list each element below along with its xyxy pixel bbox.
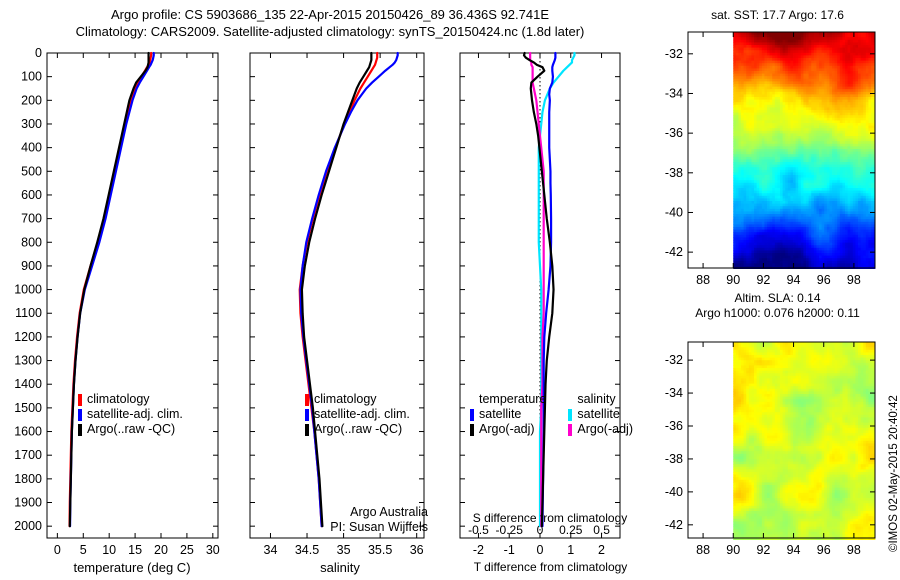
svg-text:1900: 1900 bbox=[14, 496, 42, 510]
svg-text:700: 700 bbox=[21, 212, 42, 226]
svg-text:35.5: 35.5 bbox=[368, 543, 392, 557]
legend-heading: salinity bbox=[577, 392, 615, 407]
svg-text:2: 2 bbox=[598, 543, 605, 557]
svg-text:1: 1 bbox=[567, 543, 574, 557]
legend-swatch-temp-argo-adj bbox=[470, 424, 474, 436]
svg-text:0: 0 bbox=[35, 46, 42, 60]
svg-text:-0.25: -0.25 bbox=[496, 523, 524, 537]
legend-heading-row: temperature bbox=[470, 392, 546, 407]
legend-label: Argo(-adj) bbox=[479, 422, 535, 437]
temperature-legend: climatology satellite-adj. clim. Argo(..… bbox=[78, 392, 183, 437]
legend-heading-row: salinity bbox=[568, 392, 633, 407]
svg-text:400: 400 bbox=[21, 141, 42, 155]
sla-map-plot: 889092949698-32-34-36-38-40-42 bbox=[655, 300, 900, 580]
svg-text:0: 0 bbox=[54, 543, 61, 557]
legend-item: satellite-adj. clim. bbox=[305, 407, 410, 422]
temperature-plot: 0510152025300100200300400500600700800900… bbox=[0, 0, 232, 580]
legend-item: satellite bbox=[470, 407, 546, 422]
svg-text:20: 20 bbox=[154, 543, 168, 557]
svg-text:5: 5 bbox=[80, 543, 87, 557]
svg-text:0.25: 0.25 bbox=[559, 523, 583, 537]
svg-text:800: 800 bbox=[21, 235, 42, 249]
salinity-axis-label: salinity bbox=[250, 560, 430, 575]
legend-label: satellite bbox=[577, 407, 619, 422]
salinity-plot: 3434.53535.536 bbox=[232, 0, 440, 580]
legend-label: satellite bbox=[479, 407, 521, 422]
svg-text:100: 100 bbox=[21, 70, 42, 84]
svg-text:36: 36 bbox=[410, 543, 424, 557]
legend-swatch-satellite-adj bbox=[305, 409, 309, 421]
salinity-legend: climatology satellite-adj. clim. Argo(..… bbox=[305, 392, 410, 437]
svg-text:1600: 1600 bbox=[14, 425, 42, 439]
legend-spacer bbox=[568, 394, 572, 406]
legend-label: Argo(-adj) bbox=[577, 422, 633, 437]
legend-item: satellite bbox=[568, 407, 633, 422]
svg-text:0.5: 0.5 bbox=[593, 523, 610, 537]
sst-map: 889092949698-32-34-36-38-40-42 bbox=[655, 0, 900, 300]
legend-label: Argo(..raw -QC) bbox=[314, 422, 402, 437]
svg-text:34.5: 34.5 bbox=[295, 543, 319, 557]
legend-swatch-satellite-adj bbox=[78, 409, 82, 421]
legend-item: climatology bbox=[78, 392, 183, 407]
legend-item: Argo(-adj) bbox=[470, 422, 546, 437]
attribution-line-1: Argo Australia bbox=[250, 505, 428, 520]
svg-text:500: 500 bbox=[21, 164, 42, 178]
svg-text:0: 0 bbox=[537, 543, 544, 557]
legend-item: Argo(..raw -QC) bbox=[78, 422, 183, 437]
svg-text:1400: 1400 bbox=[14, 377, 42, 391]
legend-item: Argo(-adj) bbox=[568, 422, 633, 437]
legend-label: satellite-adj. clim. bbox=[87, 407, 183, 422]
svg-text:1100: 1100 bbox=[15, 306, 42, 320]
legend-swatch-sal-argo-adj bbox=[568, 424, 572, 436]
svg-text:900: 900 bbox=[21, 259, 42, 273]
svg-text:2000: 2000 bbox=[14, 519, 42, 533]
svg-text:25: 25 bbox=[180, 543, 194, 557]
legend-spacer bbox=[470, 394, 474, 406]
svg-text:35: 35 bbox=[337, 543, 351, 557]
svg-text:200: 200 bbox=[21, 93, 42, 107]
svg-text:600: 600 bbox=[21, 188, 42, 202]
legend-label: climatology bbox=[314, 392, 377, 407]
svg-text:1300: 1300 bbox=[14, 354, 42, 368]
legend-group-salinity: salinity satellite Argo(-adj) bbox=[568, 392, 633, 437]
legend-swatch-sal-satellite bbox=[568, 409, 572, 421]
svg-text:1700: 1700 bbox=[14, 448, 42, 462]
legend-item: climatology bbox=[305, 392, 410, 407]
svg-text:15: 15 bbox=[128, 543, 142, 557]
svg-text:10: 10 bbox=[102, 543, 116, 557]
svg-text:-2: -2 bbox=[473, 543, 484, 557]
imos-credit: ©IMOS 02-May-2015 20:40:42 bbox=[888, 395, 900, 552]
difference-plot: -2-1012-0.5-0.2500.250.5 bbox=[440, 0, 655, 580]
svg-text:1500: 1500 bbox=[14, 401, 42, 415]
difference-panel: -2-1012-0.5-0.2500.250.5 bbox=[440, 0, 655, 580]
svg-text:34: 34 bbox=[264, 543, 278, 557]
temperature-axis-label: temperature (deg C) bbox=[47, 560, 217, 575]
legend-swatch-climatology bbox=[305, 394, 309, 406]
svg-text:1200: 1200 bbox=[14, 330, 42, 344]
legend-item: satellite-adj. clim. bbox=[78, 407, 183, 422]
legend-label: Argo(..raw -QC) bbox=[87, 422, 175, 437]
difference-axis-label-bottom: T difference from climatology bbox=[448, 560, 653, 574]
legend-swatch-temp-satellite bbox=[470, 409, 474, 421]
salinity-panel: 3434.53535.536 bbox=[232, 0, 440, 580]
legend-heading: temperature bbox=[479, 392, 546, 407]
legend-swatch-climatology bbox=[78, 394, 82, 406]
sla-map: 889092949698-32-34-36-38-40-42 bbox=[655, 300, 900, 580]
svg-text:300: 300 bbox=[21, 117, 42, 131]
legend-group-temperature: temperature satellite Argo(-adj) bbox=[470, 392, 546, 437]
svg-text:1000: 1000 bbox=[14, 283, 42, 297]
svg-text:1800: 1800 bbox=[14, 472, 42, 486]
legend-item: Argo(..raw -QC) bbox=[305, 422, 410, 437]
legend-label: climatology bbox=[87, 392, 150, 407]
svg-text:30: 30 bbox=[206, 543, 220, 557]
attribution: Argo Australia PI: Susan Wijffels bbox=[250, 505, 428, 535]
temperature-panel: 0510152025300100200300400500600700800900… bbox=[0, 0, 232, 580]
sst-map-plot: 889092949698-32-34-36-38-40-42 bbox=[655, 0, 900, 300]
attribution-line-2: PI: Susan Wijffels bbox=[250, 520, 428, 535]
legend-swatch-argo bbox=[78, 424, 82, 436]
difference-legend: temperature satellite Argo(-adj) salinit… bbox=[470, 392, 633, 437]
svg-text:-0.5: -0.5 bbox=[468, 523, 489, 537]
legend-swatch-argo bbox=[305, 424, 309, 436]
svg-text:-1: -1 bbox=[504, 543, 515, 557]
difference-axis-label-top: S difference from climatology bbox=[455, 511, 645, 525]
legend-label: satellite-adj. clim. bbox=[314, 407, 410, 422]
imos-credit-wrap: ©IMOS 02-May-2015 20:40:42 bbox=[888, 552, 900, 564]
